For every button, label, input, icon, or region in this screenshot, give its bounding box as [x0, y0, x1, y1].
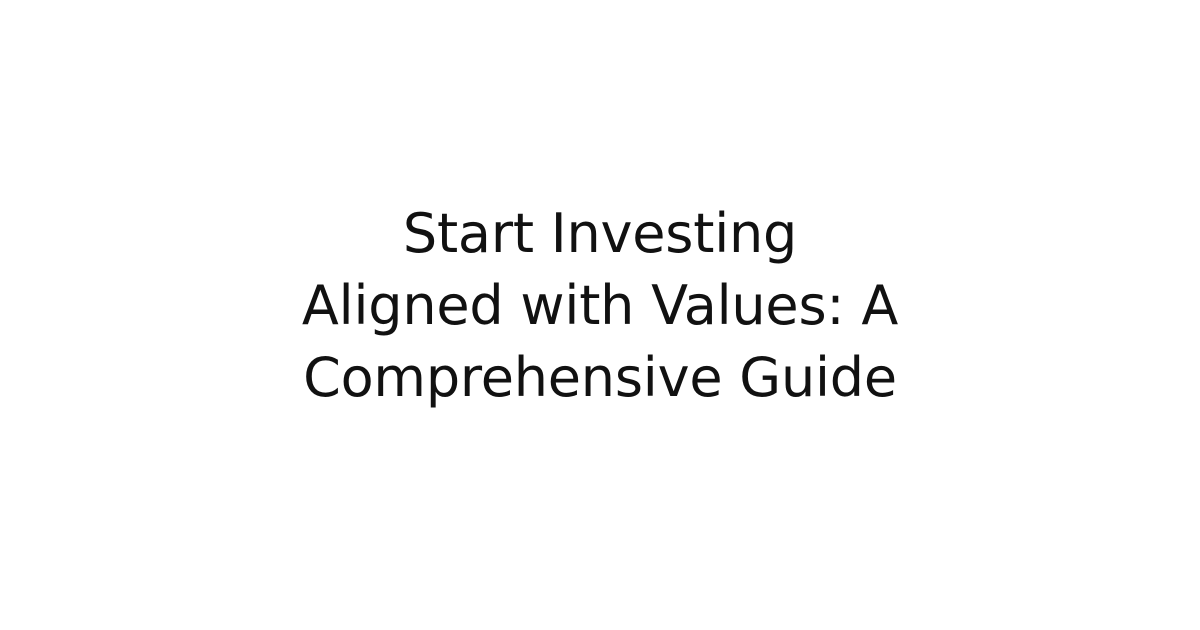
- title-block: Start Investing Aligned with Values: A C…: [300, 198, 900, 414]
- page-title: Start Investing Aligned with Values: A C…: [300, 198, 900, 414]
- title-card: Start Investing Aligned with Values: A C…: [0, 0, 1200, 630]
